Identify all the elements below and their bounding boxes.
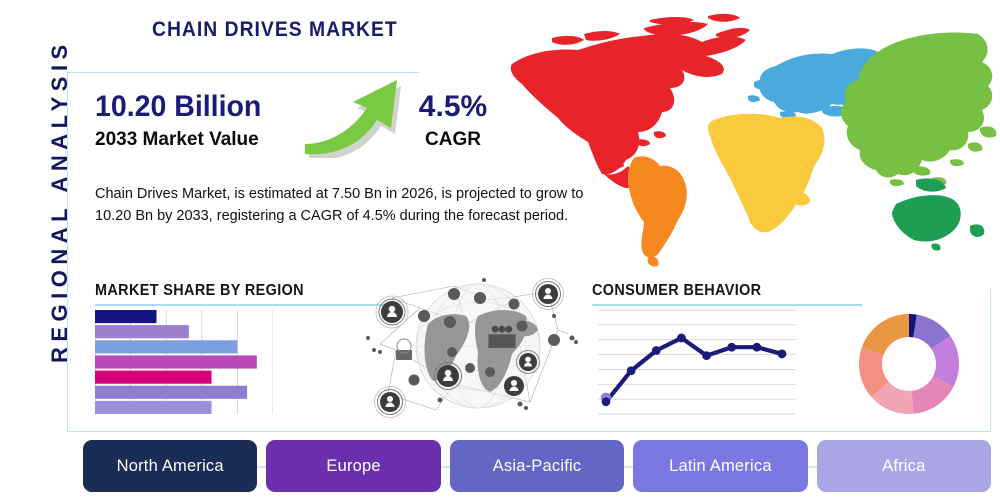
bar-6 — [95, 386, 247, 399]
market-share-title: MARKET SHARE BY REGION — [95, 282, 295, 300]
bar-5 — [95, 371, 212, 384]
region-button-label: Asia-Pacific — [493, 457, 582, 476]
region-button-group: North AmericaEuropeAsia-PacificLatin Ame… — [83, 440, 991, 492]
consumer-behavior-underline — [592, 304, 862, 306]
map-region-south-america — [628, 156, 687, 266]
line-marker-7 — [778, 350, 787, 359]
segment-donut-chart — [855, 310, 963, 418]
region-button-africa[interactable]: Africa — [817, 440, 991, 492]
map-region-oceania — [892, 178, 984, 250]
bar-4 — [95, 355, 257, 368]
line-marker-5 — [727, 343, 736, 352]
region-button-asia-pacific[interactable]: Asia-Pacific — [450, 440, 624, 492]
region-button-label: Europe — [326, 457, 380, 476]
kpi-market-value-number: 10.20 Billion — [95, 92, 261, 122]
kpi-cagr: 4.5% CAGR — [408, 92, 498, 151]
consumer-behavior-panel: CONSUMER BEHAVIOR — [592, 282, 802, 306]
global-network-globe-icon — [362, 272, 594, 424]
kpi-market-value: 10.20 Billion 2033 Market Value — [95, 92, 270, 151]
line-marker-6 — [752, 343, 761, 352]
line-marker-1 — [627, 366, 636, 375]
region-button-north-america[interactable]: North America — [83, 440, 257, 492]
map-region-north-america — [511, 14, 750, 188]
region-button-label: North America — [117, 457, 224, 476]
kpi-cagr-number: 4.5% — [408, 92, 498, 122]
region-button-europe[interactable]: Europe — [266, 440, 440, 492]
map-region-africa — [708, 114, 825, 233]
page-title: CHAIN DRIVES MARKET — [152, 18, 398, 42]
line-marker-4 — [702, 351, 711, 360]
region-button-latin-america[interactable]: Latin America — [633, 440, 807, 492]
growth-arrow-icon — [305, 78, 405, 163]
bar-1 — [95, 310, 156, 323]
kpi-market-value-label: 2033 Market Value — [95, 129, 270, 151]
line-marker-3 — [677, 334, 686, 343]
market-share-bar-chart — [95, 310, 273, 414]
bar-3 — [95, 340, 237, 353]
consumer-behavior-line-chart — [598, 308, 796, 416]
line-marker-2 — [652, 346, 661, 355]
donut-slice-7 — [862, 314, 909, 355]
world-map-icon — [492, 8, 1000, 276]
kpi-cagr-label: CAGR — [408, 129, 498, 151]
region-button-label: Latin America — [669, 457, 772, 476]
market-share-panel: MARKET SHARE BY REGION — [95, 282, 310, 306]
bar-2 — [95, 325, 189, 338]
consumer-behavior-title: CONSUMER BEHAVIOR — [592, 282, 787, 300]
market-share-underline — [95, 304, 395, 306]
bar-7 — [95, 401, 212, 414]
summary-paragraph: Chain Drives Market, is estimated at 7.5… — [95, 183, 591, 228]
infographic-root: CHAIN DRIVES MARKET REGIONAL ANALYSIS 10… — [0, 0, 1000, 500]
region-button-label: Africa — [882, 457, 925, 476]
line-marker-0 — [602, 397, 611, 406]
